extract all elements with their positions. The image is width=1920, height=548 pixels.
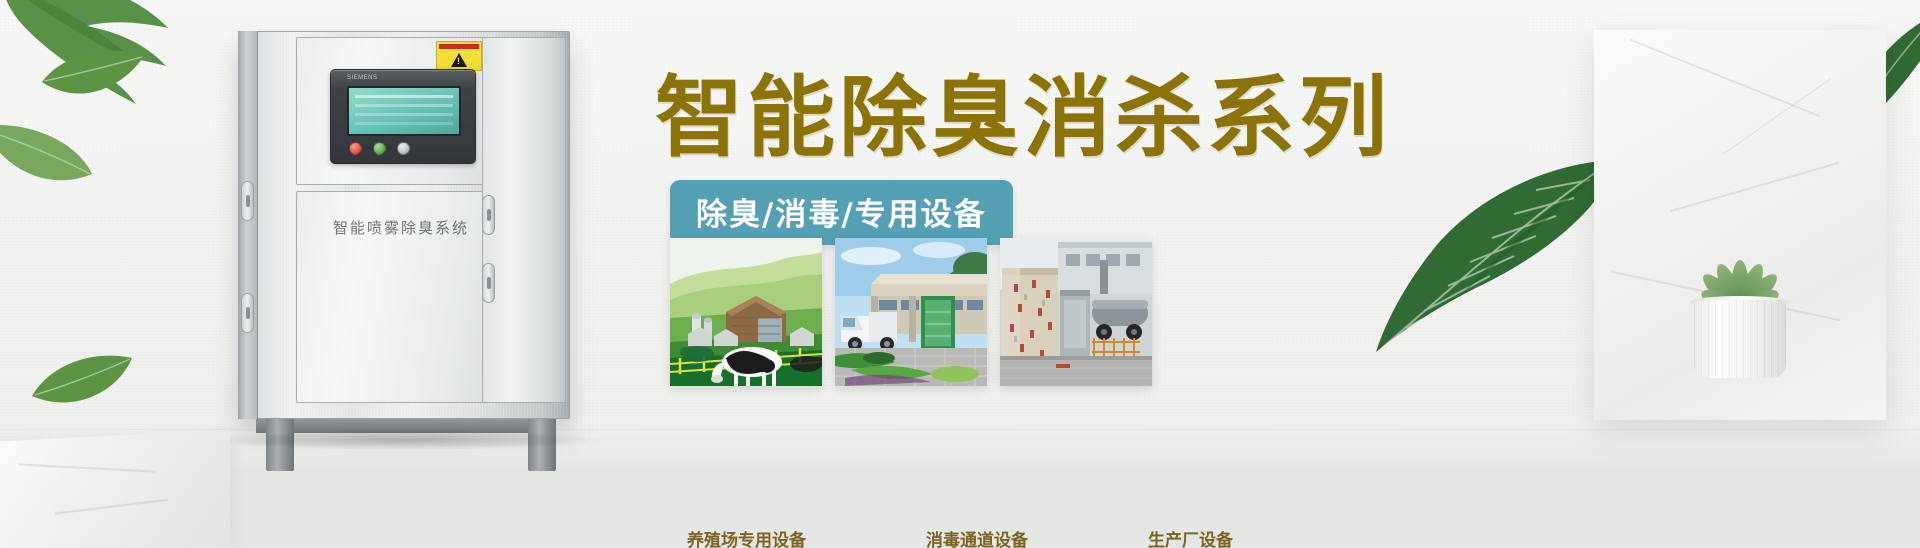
caption-item: 养殖场专用设备 (687, 526, 806, 548)
green-leaf-icon (30, 352, 135, 412)
door-handle (482, 263, 495, 303)
warning-sticker (436, 41, 482, 71)
dairy-farm-photo[interactable] (670, 238, 822, 386)
marble-panel (1594, 30, 1886, 420)
green-leaf-icon (38, 48, 148, 110)
hmi-brand-label: SIEMENS (347, 75, 378, 81)
hmi-button-row[interactable] (349, 142, 410, 155)
banana-leaf-icon (1350, 150, 1620, 360)
promotional-banner: SIEMENS 智能喷雾除臭系统 智能除臭消杀系列 除臭/消毒/专用设备 (0, 0, 1920, 548)
cabinet-hinge (241, 293, 254, 333)
deodorizing-tower-photo[interactable] (1000, 238, 1152, 386)
plant-pot (1694, 300, 1786, 378)
cabinet-hinge (241, 181, 254, 221)
green-leaf-icon (0, 118, 95, 196)
caption-item: 消毒通道设备 (926, 526, 1028, 548)
product-thumbnail-gallery (670, 238, 1152, 386)
stop-button[interactable] (349, 142, 362, 155)
vehicle-disinfection-photo[interactable] (835, 238, 987, 386)
warning-triangle-icon (451, 53, 467, 67)
caption-item: 生产厂设备 (1148, 526, 1233, 548)
caption-row: 养殖场专用设备 消毒通道设备 生产厂设备 (0, 526, 1920, 548)
cabinet-left-column (238, 31, 258, 419)
hmi-control-panel[interactable]: SIEMENS (330, 69, 476, 164)
deodorizing-machine-cabinet: SIEMENS 智能喷雾除臭系统 (238, 31, 570, 419)
page-title: 智能除臭消杀系列 (655, 74, 1391, 162)
reset-button[interactable] (397, 142, 410, 155)
status-badge: 除臭/消毒/专用设备 (670, 180, 1013, 245)
machine-model-label: 智能喷雾除臭系统 (296, 217, 506, 238)
start-button[interactable] (373, 142, 386, 155)
hmi-touchscreen[interactable] (347, 86, 461, 136)
machine-shadow (200, 430, 610, 450)
warning-bar (439, 44, 479, 49)
